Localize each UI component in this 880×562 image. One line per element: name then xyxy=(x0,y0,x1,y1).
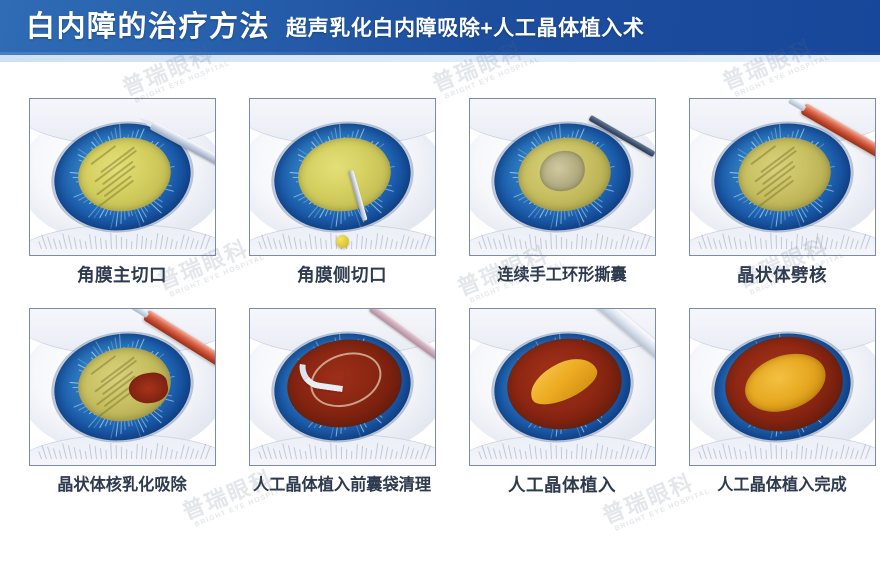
step-image-iol-implantation xyxy=(469,308,656,466)
step-cell-8: 人工晶体植入完成 xyxy=(672,308,880,518)
eye-illustration xyxy=(30,309,215,465)
nucleus-striations xyxy=(72,131,175,218)
step-cell-3: 连续手工环形撕囊 xyxy=(452,98,672,308)
step-caption: 人工晶体植入 xyxy=(508,477,616,495)
step-image-capsulorhexis xyxy=(469,98,656,256)
step-caption: 晶状体劈核 xyxy=(737,267,827,285)
step-caption: 角膜侧切口 xyxy=(297,267,387,285)
folded-iol xyxy=(522,349,602,412)
step-image-iol-complete xyxy=(689,308,876,466)
step-image-capsular-bag-cleaning xyxy=(249,308,436,466)
eye-illustration xyxy=(470,99,655,255)
capsulorhexis-flap xyxy=(534,144,591,198)
implanted-iol xyxy=(737,344,833,422)
step-cell-1: 角膜主切口 xyxy=(12,98,232,308)
cataractous-lens xyxy=(72,131,175,218)
step-caption: 角膜主切口 xyxy=(77,267,167,285)
eye-illustration xyxy=(30,99,215,255)
steps-grid: 角膜主切口 角膜侧切口 xyxy=(0,62,880,562)
step-image-nucleus-chopping xyxy=(689,98,876,256)
step-image-phacoemulsification xyxy=(29,308,216,466)
eye-illustration xyxy=(690,99,875,255)
step-image-corneal-side-incision xyxy=(249,98,436,256)
step-image-corneal-main-incision xyxy=(29,98,216,256)
step-caption: 晶状体核乳化吸除 xyxy=(57,477,187,493)
step-caption: 人工晶体植入完成 xyxy=(717,477,847,493)
emulsifying-nucleus xyxy=(72,341,175,428)
step-caption: 连续手工环形撕囊 xyxy=(497,267,627,283)
eye-illustration xyxy=(470,309,655,465)
step-cell-7: 人工晶体植入 xyxy=(452,308,672,518)
step-cell-2: 角膜侧切口 xyxy=(232,98,452,308)
instrument-tip-icon xyxy=(336,235,349,248)
header-accent-strip xyxy=(0,55,880,62)
eye-illustration xyxy=(250,99,435,255)
step-cell-5: 晶状体核乳化吸除 xyxy=(12,308,232,518)
page-title: 白内障的治疗方法 xyxy=(26,13,270,42)
cataractous-lens xyxy=(732,131,835,218)
eye-illustration xyxy=(690,309,875,465)
header-bar: 白内障的治疗方法 超声乳化白内障吸除+人工晶体植入术 xyxy=(0,0,880,55)
infographic-page: 白内障的治疗方法 超声乳化白内障吸除+人工晶体植入术 普瑞眼科 BRIGHT E… xyxy=(0,0,880,562)
step-caption: 人工晶体植入前囊袋清理 xyxy=(253,477,431,493)
step-cell-6: 人工晶体植入前囊袋清理 xyxy=(232,308,452,518)
eye-illustration xyxy=(250,309,435,465)
nucleus-crack-lines xyxy=(732,131,835,218)
page-subtitle: 超声乳化白内障吸除+人工晶体植入术 xyxy=(286,18,644,39)
step-cell-4: 晶状体劈核 xyxy=(672,98,880,308)
